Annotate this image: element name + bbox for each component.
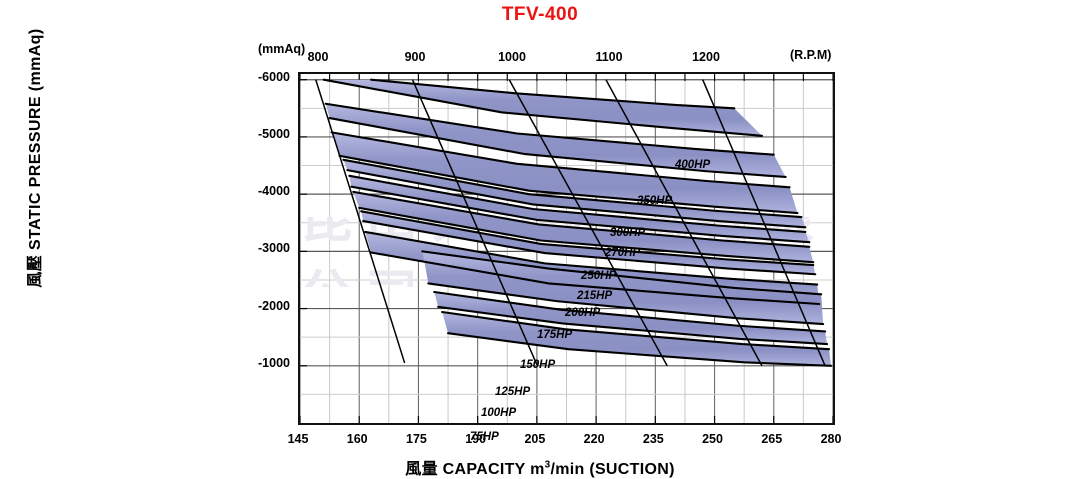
x-tick-220: 220 [569,432,619,446]
performance-chart-plot-area: 昆山大风机械有限公司 400HP350HP300HP270HP250HP215H… [298,72,835,425]
hp-label-350hp: 350HP [637,195,672,207]
rpm-tick-1000: 1000 [487,50,537,64]
x-tick-280: 280 [806,432,856,446]
x-tick-205: 205 [510,432,560,446]
hp-label-270hp: 270HP [605,247,640,259]
hp-label-125hp: 125HP [495,386,530,398]
rpm-tick-1200: 1200 [681,50,731,64]
y-tick-5000: -5000 [230,127,290,141]
rpm-line-1200 [703,80,825,366]
x-tick-265: 265 [747,432,797,446]
rpm-tick-800: 800 [293,50,343,64]
hp-label-100hp: 100HP [481,407,516,419]
y-tick-1000: -1000 [230,356,290,370]
x-tick-160: 160 [332,432,382,446]
x-axis-title-pre: 風量 CAPACITY m [405,461,544,478]
hp-label-150hp: 150HP [520,359,555,371]
x-tick-145: 145 [273,432,323,446]
x-tick-175: 175 [391,432,441,446]
hp-label-75hp: 75HP [470,431,499,443]
chart-curves [300,74,833,423]
x-axis-title: 風量 CAPACITY m3/min (SUCTION) [0,455,1080,479]
hp-label-300hp: 300HP [610,227,645,239]
y-tick-3000: -3000 [230,241,290,255]
hp-label-175hp: 175HP [537,329,572,341]
y-tick-4000: -4000 [230,184,290,198]
hp-label-400hp: 400HP [675,159,710,171]
y-tick-6000: -6000 [230,70,290,84]
rpm-tick-900: 900 [390,50,440,64]
y-axis-title: 風壓 STATIC PRESSURE (mmAq) [21,0,45,323]
x-axis-title-post: /min (SUCTION) [551,461,675,478]
hp-label-215hp: 215HP [577,290,612,302]
hp-label-200hp: 200HP [565,307,600,319]
rpm-unit-label: (R.P.M) [790,48,831,62]
hp-label-250hp: 250HP [581,270,616,282]
x-tick-250: 250 [688,432,738,446]
x-tick-235: 235 [628,432,678,446]
y-tick-2000: -2000 [230,299,290,313]
rpm-tick-1100: 1100 [584,50,634,64]
page-title: TFV-400 [0,4,1080,26]
